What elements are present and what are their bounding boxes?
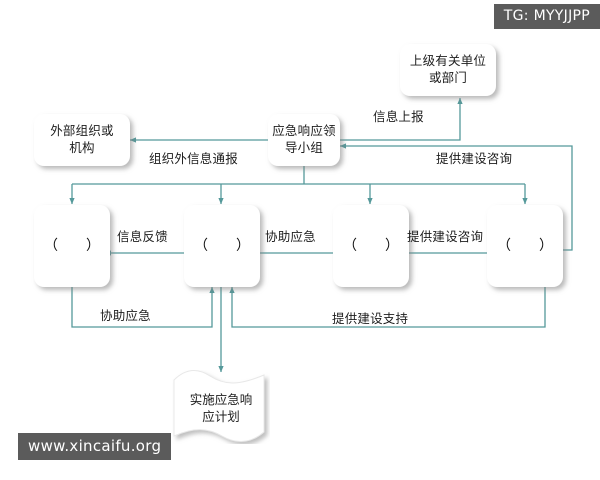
website-watermark: www.xincaifu.org xyxy=(18,433,171,460)
node-superior-unit[interactable]: 上级有关单位 或部门 xyxy=(400,44,496,96)
edge-label-build-consult-top: 提供建设咨询 xyxy=(436,148,512,167)
edge-label-build-consult-mid: 提供建设咨询 xyxy=(407,226,483,245)
node-superior-unit-label: 上级有关单位 或部门 xyxy=(410,53,486,87)
plan-doc-line1: 实施应急响 xyxy=(190,392,253,407)
node-blank-1[interactable]: （ ） xyxy=(34,205,110,287)
node-emergency-leadership-group-label: 应急响应领 导小组 xyxy=(272,123,336,157)
node-emergency-leadership-group[interactable]: 应急响应领 导小组 xyxy=(268,114,340,166)
node-blank-2[interactable]: （ ） xyxy=(184,205,260,287)
telegram-watermark: TG: MYYJJPP xyxy=(494,4,600,29)
node-superior-unit-line1: 上级有关单位 xyxy=(410,53,486,68)
edge-label-assist-response-bottom: 协助应急 xyxy=(100,305,151,324)
diagram-canvas: 上级有关单位 或部门 外部组织或 机构 应急响应领 导小组 （ ） （ ） （ … xyxy=(0,0,600,480)
node-implement-response-plan-label: 实施应急响 应计划 xyxy=(190,388,253,426)
plan-doc-line2: 应计划 xyxy=(202,409,240,424)
node-external-org-label: 外部组织或 机构 xyxy=(50,123,114,157)
node-implement-response-plan[interactable]: 实施应急响 应计划 xyxy=(172,370,270,444)
edge-label-info-feedback: 信息反馈 xyxy=(117,226,168,245)
node-superior-unit-line2: 或部门 xyxy=(429,70,467,85)
node-blank-3[interactable]: （ ） xyxy=(333,205,409,287)
edge-label-report-up: 信息上报 xyxy=(373,106,424,125)
node-blank-4[interactable]: （ ） xyxy=(487,205,563,287)
node-external-org-line1: 外部组织或 xyxy=(50,123,114,138)
edge-label-external-notice: 组织外信息通报 xyxy=(149,148,238,167)
node-external-org[interactable]: 外部组织或 机构 xyxy=(34,114,130,166)
node-external-org-line2: 机构 xyxy=(69,140,94,155)
edge-label-build-support-bottom: 提供建设支持 xyxy=(332,308,408,327)
node-leadgroup-line2: 导小组 xyxy=(285,140,323,155)
node-leadgroup-line1: 应急响应领 xyxy=(272,123,336,138)
edge-label-assist-response-mid: 协助应急 xyxy=(265,226,316,245)
